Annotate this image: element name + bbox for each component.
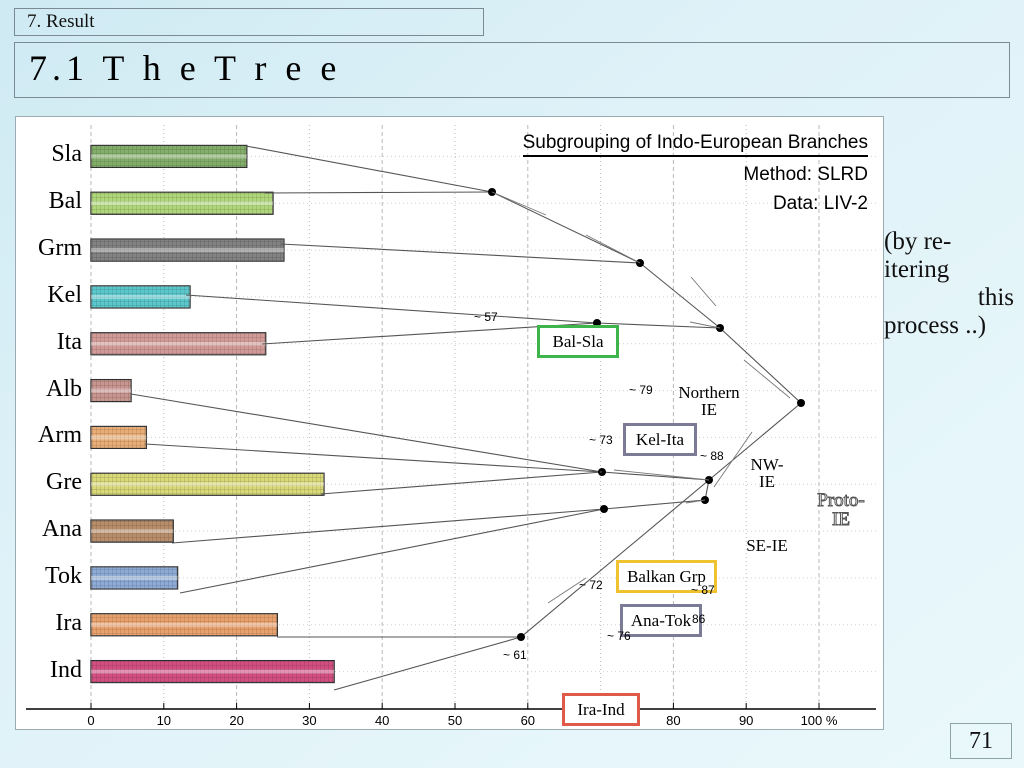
x-axis-tick-40: 40 — [362, 713, 402, 728]
split-label-86: 86 — [692, 612, 705, 626]
chart-title-main: Subgrouping of Indo-European Branches — [523, 132, 868, 157]
split-label-87: ~ 87 — [691, 583, 715, 597]
section-label: 7. Result — [27, 11, 95, 33]
tree-edge-tok-s76 — [180, 509, 604, 593]
y-axis-label-tok: Tok — [20, 563, 82, 590]
bar-tok[interactable] — [91, 567, 178, 589]
y-axis-label-alb: Alb — [20, 376, 82, 403]
page-number: 71 — [969, 728, 993, 755]
node-label-ira-ind: Ira-Ind — [577, 700, 624, 720]
y-axis-label-kel: Kel — [20, 282, 82, 309]
split-label-88: ~ 88 — [700, 449, 724, 463]
bar-bal[interactable] — [91, 192, 273, 214]
tree-edge-s79-s88 — [640, 263, 720, 328]
x-axis-tick-0: 0 — [71, 713, 111, 728]
proto-ie-line-1: Proto- — [804, 491, 878, 510]
split-label-72: ~ 72 — [579, 578, 603, 592]
x-axis-tick-30: 30 — [289, 713, 329, 728]
tree-node-dot-proto[interactable] — [797, 399, 805, 407]
tree-edge-arm-s72 — [145, 444, 602, 472]
y-axis-label-arm: Arm — [20, 422, 82, 449]
bar-kel[interactable] — [91, 286, 190, 308]
tree-edge-ind-s61 — [334, 637, 521, 690]
side-note-line-1: (by re- — [884, 228, 1020, 256]
split-label-61: ~ 61 — [503, 648, 527, 662]
node-label-northern-ie: Northern IE — [666, 384, 752, 418]
node-label-bal-sla: Bal-Sla — [553, 332, 604, 352]
tree-connector-3 — [691, 277, 716, 306]
bar-ira[interactable] — [91, 614, 277, 636]
node-label-ana-tok: Ana-Tok — [631, 611, 691, 631]
split-label-57: ~ 57 — [474, 310, 498, 324]
node-box-ana-tok[interactable]: Ana-Tok — [620, 604, 702, 637]
y-axis-label-sla: Sla — [20, 141, 82, 168]
tree-edge-grm-s79 — [281, 244, 640, 263]
y-axis-label-ita: Ita — [20, 329, 82, 356]
tree-edge-s76-s86 — [604, 500, 705, 509]
node-label-nw-ie: NW- IE — [744, 456, 790, 490]
tree-node-dot-s76[interactable] — [600, 505, 608, 513]
tree-edge-kel-s73 — [186, 295, 597, 323]
x-axis-tick-100: 100 % — [799, 713, 839, 728]
node-box-kel-ita[interactable]: Kel-Ita — [623, 423, 697, 456]
x-axis-tick-60: 60 — [508, 713, 548, 728]
y-axis-label-ind: Ind — [20, 657, 82, 684]
chart-title-method: Method: SLRD — [436, 164, 868, 186]
y-axis-label-bal: Bal — [20, 188, 82, 215]
bar-ind[interactable] — [91, 661, 334, 683]
slide-title-band: 7.1 T h e T r e e — [14, 42, 1010, 98]
node-box-ira-ind[interactable]: Ira-Ind — [562, 693, 640, 726]
x-axis-tick-10: 10 — [144, 713, 184, 728]
chart-title-block: Subgrouping of Indo-European Branches Me… — [436, 132, 868, 215]
northern-ie-line-2: IE — [666, 401, 752, 418]
node-label-kel-ita: Kel-Ita — [636, 430, 684, 450]
x-axis-tick-20: 20 — [217, 713, 257, 728]
split-label-79: ~ 79 — [629, 383, 653, 397]
tree-node-dot-s61[interactable] — [517, 633, 525, 641]
y-axis-label-grm: Grm — [20, 235, 82, 262]
node-box-bal-sla[interactable]: Bal-Sla — [537, 325, 619, 358]
side-note-line-2: itering — [884, 256, 1020, 284]
bar-alb[interactable] — [91, 380, 131, 402]
node-label-se-ie: SE-IE — [737, 537, 797, 554]
node-label-proto-ie: Proto- IE — [804, 491, 878, 529]
side-note-line-3: this — [884, 284, 1020, 312]
tree-connector-1 — [586, 235, 640, 263]
chart-panel: Subgrouping of Indo-European Branches Me… — [15, 116, 884, 730]
page-title: 7.1 T h e T r e e — [29, 47, 341, 89]
nw-ie-line-1: NW- — [744, 456, 790, 473]
y-axis-label-ana: Ana — [20, 516, 82, 543]
x-axis-tick-50: 50 — [435, 713, 475, 728]
side-note-line-4: process ..) — [884, 312, 1020, 340]
se-ie-line-1: SE-IE — [737, 537, 797, 554]
bar-arm[interactable] — [91, 426, 146, 448]
y-axis-label-ira: Ira — [20, 610, 82, 637]
bar-sla[interactable] — [91, 145, 247, 167]
x-axis-tick-80: 80 — [653, 713, 693, 728]
bar-ita[interactable] — [91, 333, 266, 355]
tree-edge-s72-s87 — [602, 472, 709, 480]
side-note: (by re- itering this process ..) — [884, 228, 1020, 340]
section-header-band: 7. Result — [14, 8, 484, 36]
chart-title-data: Data: LIV-2 — [436, 193, 868, 215]
bar-gre[interactable] — [91, 473, 324, 495]
tree-edge-gre-s72 — [321, 472, 602, 494]
page-number-box: 71 — [950, 723, 1012, 759]
tree-edge-alb-s72 — [131, 394, 602, 472]
proto-ie-line-2: IE — [804, 510, 878, 529]
y-axis-label-gre: Gre — [20, 469, 82, 496]
tree-connector-7 — [614, 470, 709, 480]
split-label-73: ~ 73 — [589, 433, 613, 447]
nw-ie-line-2: IE — [744, 473, 790, 490]
x-axis-tick-90: 90 — [726, 713, 766, 728]
bar-ana[interactable] — [91, 520, 173, 542]
northern-ie-line-1: Northern — [666, 384, 752, 401]
bar-grm[interactable] — [91, 239, 284, 261]
slide-canvas: 7. Result 7.1 T h e T r e e (by re- iter… — [0, 0, 1024, 768]
split-label-76: ~ 76 — [607, 629, 631, 643]
